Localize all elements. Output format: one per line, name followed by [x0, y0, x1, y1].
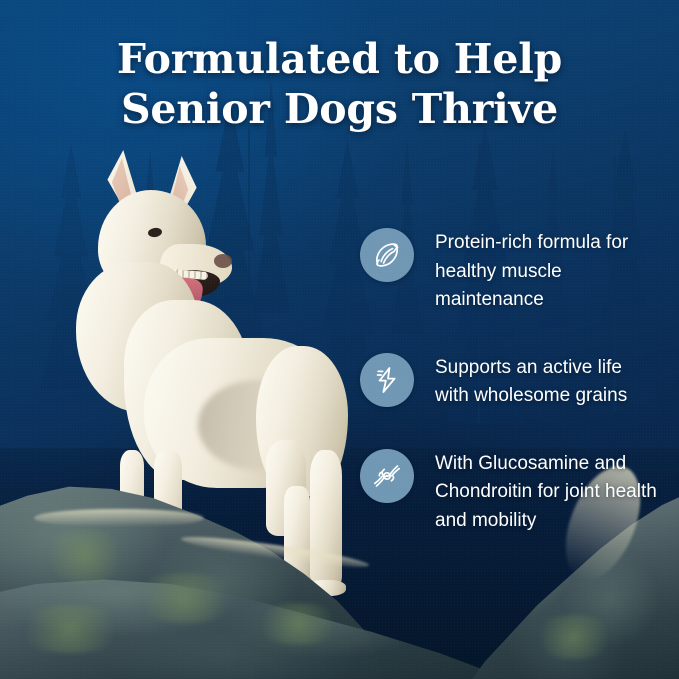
benefit-item-protein: Protein-rich formula for healthy muscle …: [360, 228, 660, 315]
benefit-item-joint-health: With Glucosamine and Chondroitin for joi…: [360, 449, 660, 536]
headline-line-2: Senior Dogs Thrive: [0, 84, 679, 134]
benefit-list: Protein-rich formula for healthy muscle …: [360, 228, 660, 535]
lightning-bolt-icon: [360, 353, 414, 407]
joint-bone-icon: [360, 449, 414, 503]
dog-nose: [214, 254, 232, 268]
benefit-text: With Glucosamine and Chondroitin for joi…: [435, 449, 660, 536]
page-title: Formulated to Help Senior Dogs Thrive: [0, 34, 679, 134]
muscle-fiber-icon: [360, 228, 414, 282]
benefit-item-active-life: Supports an active life with wholesome g…: [360, 353, 660, 411]
product-feature-poster: Formulated to Help Senior Dogs Thrive Pr…: [0, 0, 679, 679]
benefit-text: Protein-rich formula for healthy muscle …: [435, 228, 660, 315]
headline-line-1: Formulated to Help: [117, 35, 562, 83]
benefit-text: Supports an active life with wholesome g…: [435, 353, 660, 411]
